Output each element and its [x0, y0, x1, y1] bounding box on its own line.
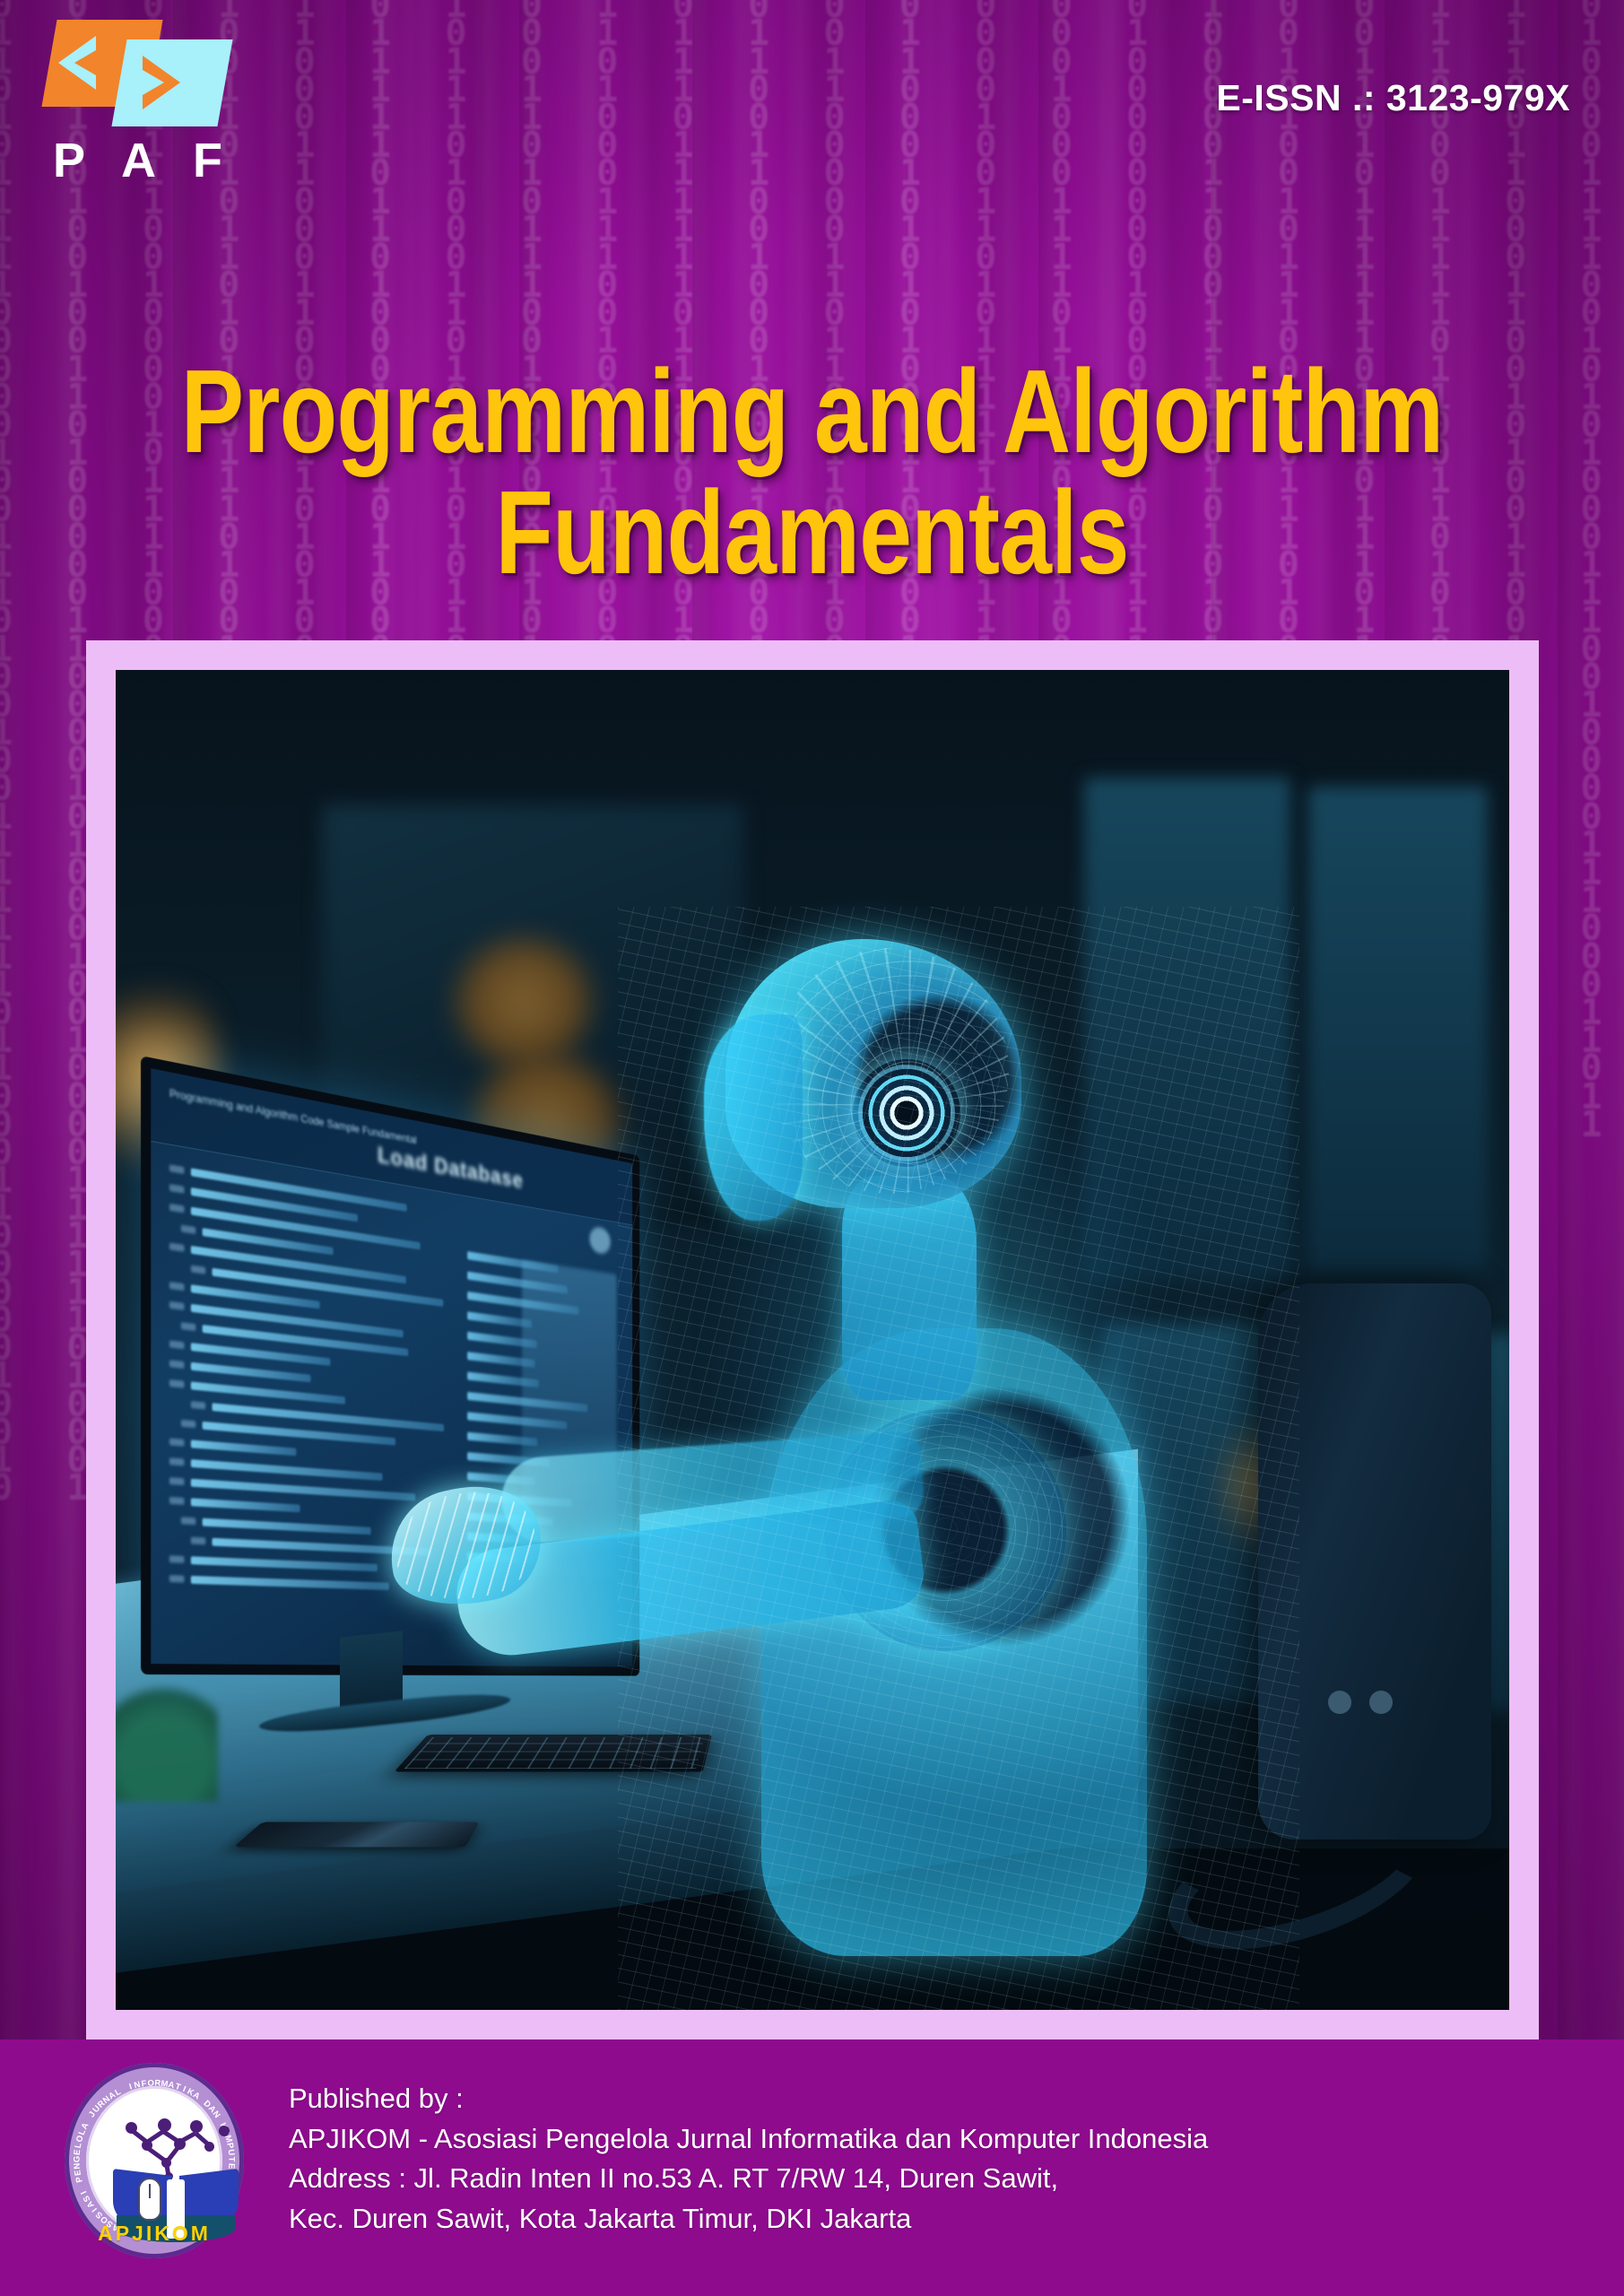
publisher-line-2: Address : Jl. Radin Inten II no.53 A. RT… — [289, 2159, 1208, 2199]
ai-face-profile — [704, 1014, 803, 1221]
publisher-line-3: Kec. Duren Sawit, Kota Jakarta Timur, DK… — [289, 2199, 1208, 2239]
paf-logo: P A F — [49, 20, 256, 186]
right-chevron-icon — [128, 52, 184, 113]
smartphone — [233, 1822, 480, 1847]
computer-mouse-icon — [138, 2178, 161, 2221]
wall-art-blob — [456, 939, 591, 1065]
eissn-label: E-ISSN .: 3123-979X — [1216, 77, 1570, 119]
ai-humanoid-figure — [618, 907, 1299, 2010]
left-chevron-icon — [55, 32, 110, 93]
cover-header: P A F E-ISSN .: 3123-979X — [0, 0, 1624, 179]
apjikom-seal-logo: ASOSIASI PENGELOLA JURNAL INFORMATIKA DA… — [65, 2063, 244, 2258]
cover-title: Programming and Algorithm Fundamentals — [0, 352, 1624, 593]
seal-inner-disc — [86, 2086, 222, 2235]
seal-bottom-label: APJIKOM — [65, 2222, 244, 2246]
title-line-1: Programming and Algorithm — [162, 352, 1462, 473]
publisher-line-1: APJIKOM - Asosiasi Pengelola Jurnal Info… — [289, 2119, 1208, 2160]
screen-status-dot — [589, 1226, 610, 1256]
window-pane — [1308, 787, 1488, 1271]
paf-logo-mark — [49, 20, 216, 127]
plant — [116, 1667, 218, 1802]
ai-neck — [842, 1176, 977, 1400]
cover-footer: ASOSIASI PENGELOLA JURNAL INFORMATIKA DA… — [0, 2039, 1624, 2296]
cover-photo: Programming and Algorithm Code Sample Fu… — [116, 670, 1509, 2010]
journal-cover: 1 0 1 1 0 1 0 1 1 1 1 1 0 0 0 0 0 1 0 0 … — [0, 0, 1624, 2296]
ai-ear-port-icon — [853, 1059, 960, 1167]
chair-knobs — [1328, 1691, 1351, 1714]
title-line-2: Fundamentals — [162, 473, 1462, 594]
publisher-line-0: Published by : — [289, 2079, 1208, 2119]
network-nodes-icon — [115, 2117, 237, 2179]
publisher-info: Published by : APJIKOM - Asosiasi Pengel… — [289, 2079, 1208, 2239]
cover-image-frame: Programming and Algorithm Code Sample Fu… — [86, 640, 1539, 2039]
paf-wordmark: P A F — [53, 133, 235, 188]
